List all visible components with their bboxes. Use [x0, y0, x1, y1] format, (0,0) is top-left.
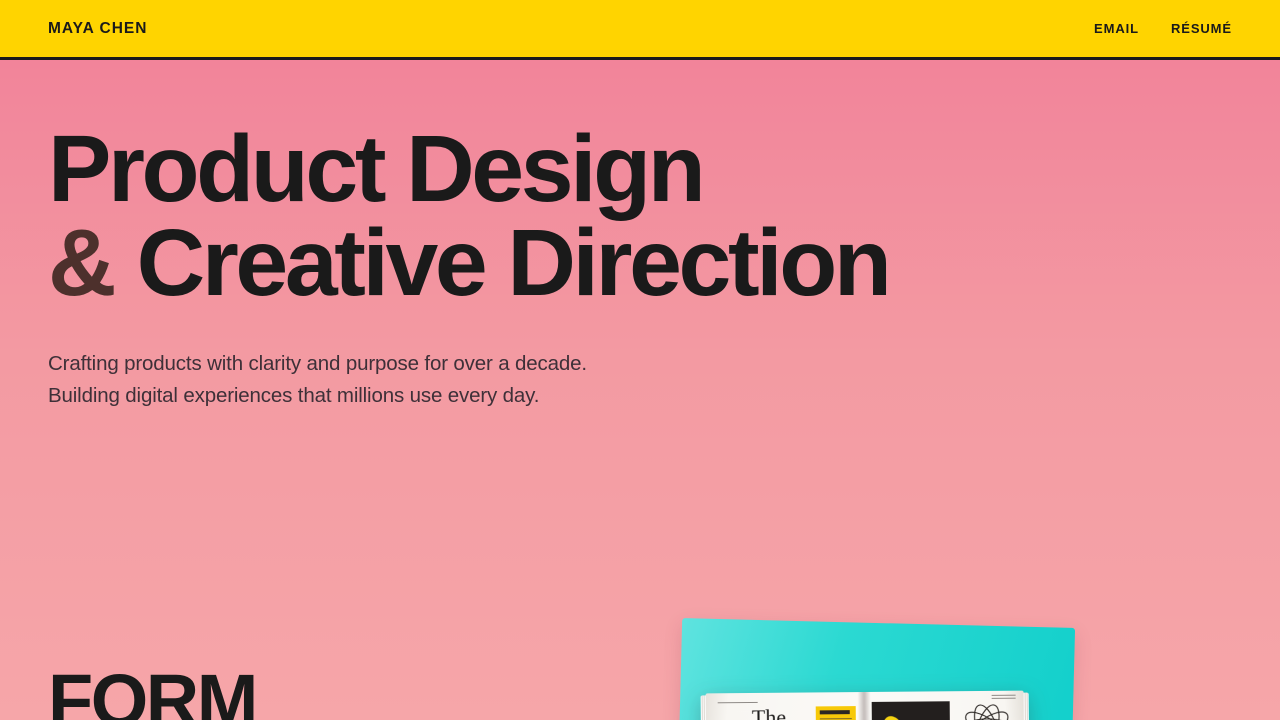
headline-line-2-text: Creative Direction [137, 210, 889, 316]
site-header: MAYA CHEN EMAIL RÉSUMÉ [0, 0, 1280, 60]
hero-section: Product Design & Creative Direction Craf… [0, 60, 1280, 720]
artwork-composition: The ZIN [660, 555, 1100, 720]
headline-line-2: & Creative Direction [48, 216, 888, 310]
headline-line-1: Product Design [48, 122, 888, 216]
brand-logo[interactable]: MAYA CHEN [48, 20, 147, 38]
section-label-form: FORM [48, 664, 256, 720]
magazine-yellow-callout [816, 706, 857, 720]
nav-link-email[interactable]: EMAIL [1094, 21, 1139, 36]
magazine-spine-shadow [858, 692, 872, 720]
hero-copy: Product Design & Creative Direction Craf… [48, 122, 888, 413]
nav-link-resume[interactable]: RÉSUMÉ [1171, 21, 1232, 36]
page-root: MAYA CHEN EMAIL RÉSUMÉ Product Design & … [0, 0, 1280, 720]
page-title: Product Design & Creative Direction [48, 122, 888, 310]
magazine-folio-text [992, 695, 1016, 700]
hero-subcopy-line-2: Building digital experiences that millio… [48, 380, 888, 412]
hero-subcopy-line-1: Crafting products with clarity and purpo… [48, 348, 888, 380]
atom-diagram-icon [960, 703, 1014, 720]
primary-navigation: EMAIL RÉSUMÉ [1094, 21, 1232, 36]
callout-heading-bar [820, 710, 850, 714]
hero-subcopy: Crafting products with clarity and purpo… [48, 348, 888, 413]
magazine-dark-plate [872, 701, 951, 720]
droplet-small-icon [878, 713, 907, 720]
headline-ampersand: & [48, 210, 114, 316]
open-magazine-image: The ZIN [706, 691, 1025, 720]
magazine-right-page [864, 691, 1025, 720]
magazine-left-page: The ZIN [706, 692, 865, 720]
